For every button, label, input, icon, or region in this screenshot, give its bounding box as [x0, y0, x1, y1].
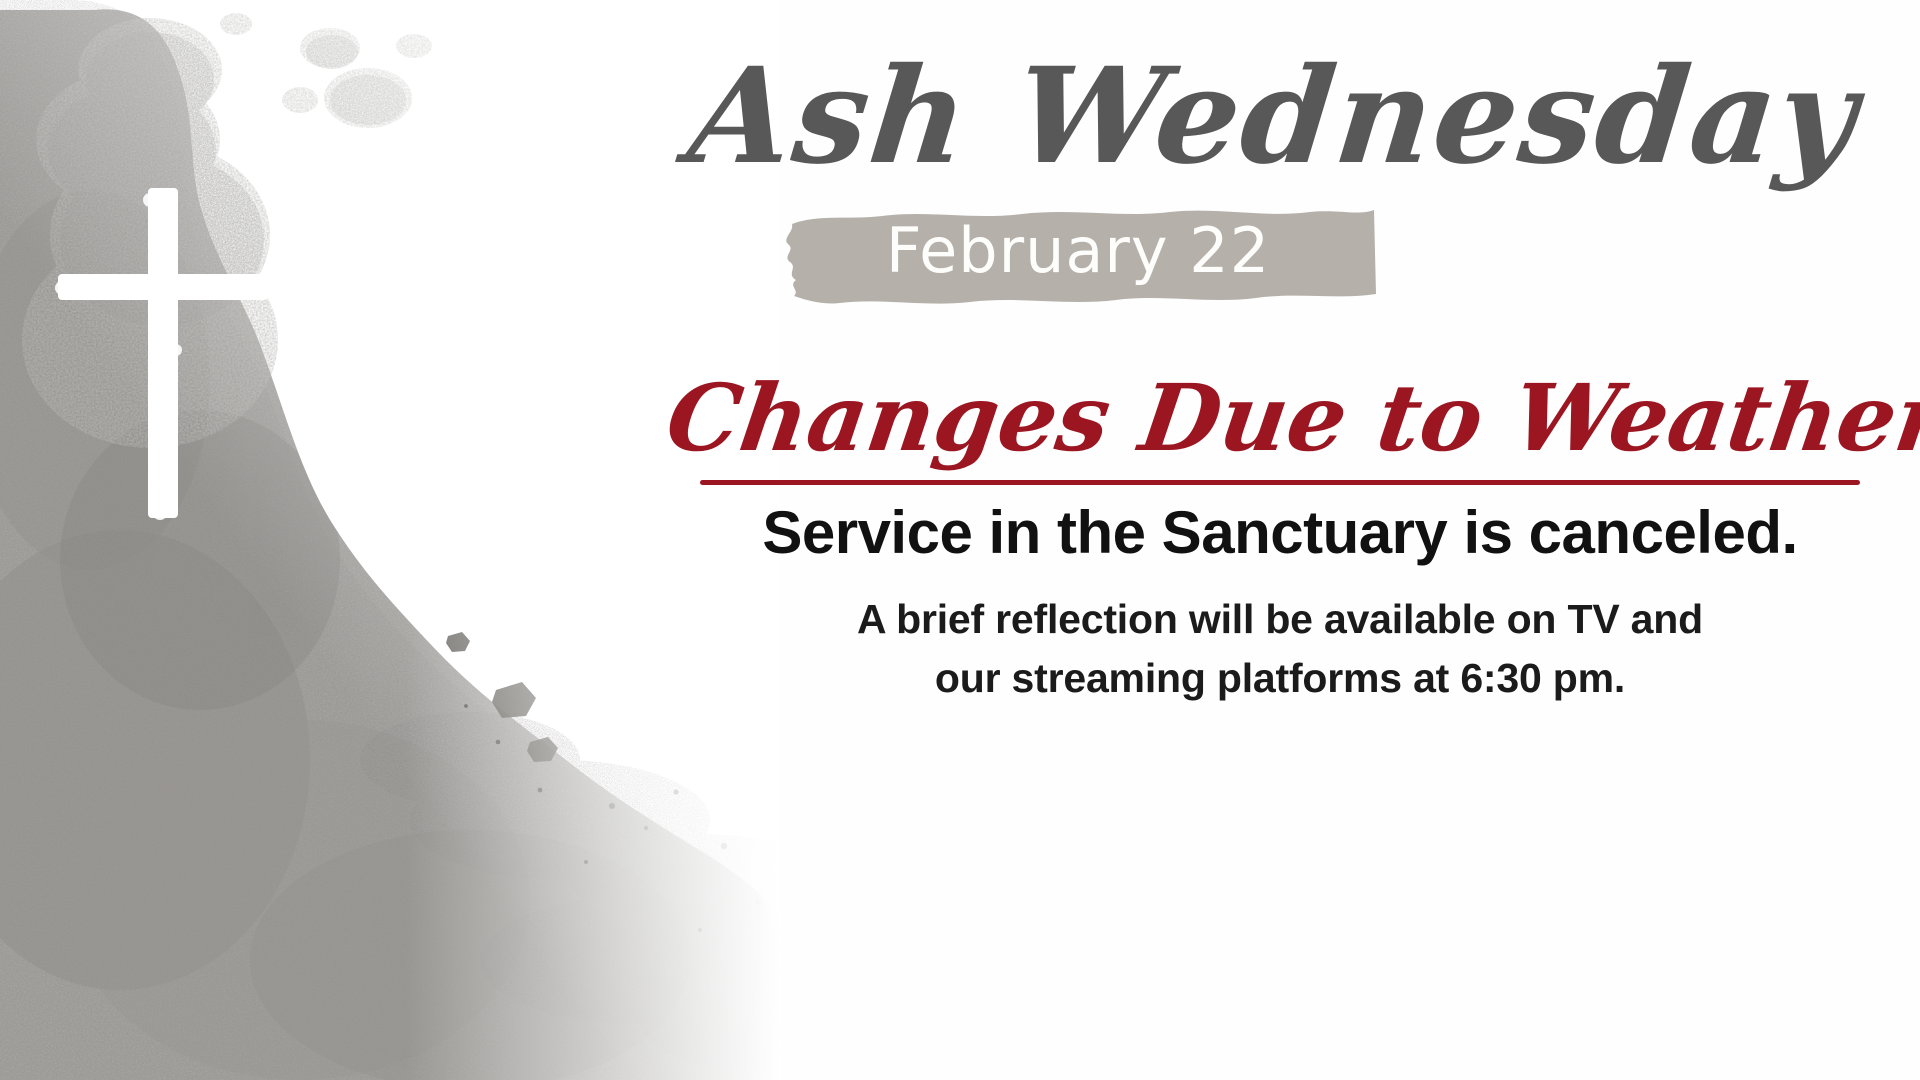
date-banner: February 22 — [778, 198, 1378, 306]
date-text: February 22 — [778, 198, 1378, 306]
headline-underline — [700, 480, 1860, 485]
announcement-slide: Ash Wednesday February 22 Changes Due to… — [0, 0, 1920, 1080]
headline-text: Changes Due to Weather — [662, 372, 1920, 464]
page-title: Ash Wednesday — [683, 48, 1858, 187]
detail-line-2: our streaming platforms at 6:30 pm. — [660, 649, 1900, 708]
statement-text: Service in the Sanctuary is canceled. — [660, 500, 1900, 566]
detail-text: A brief reflection will be available on … — [660, 590, 1900, 709]
headline-block: Changes Due to Weather — [668, 372, 1892, 464]
detail-line-1: A brief reflection will be available on … — [660, 590, 1900, 649]
text-column: Ash Wednesday February 22 Changes Due to… — [690, 0, 1920, 1080]
